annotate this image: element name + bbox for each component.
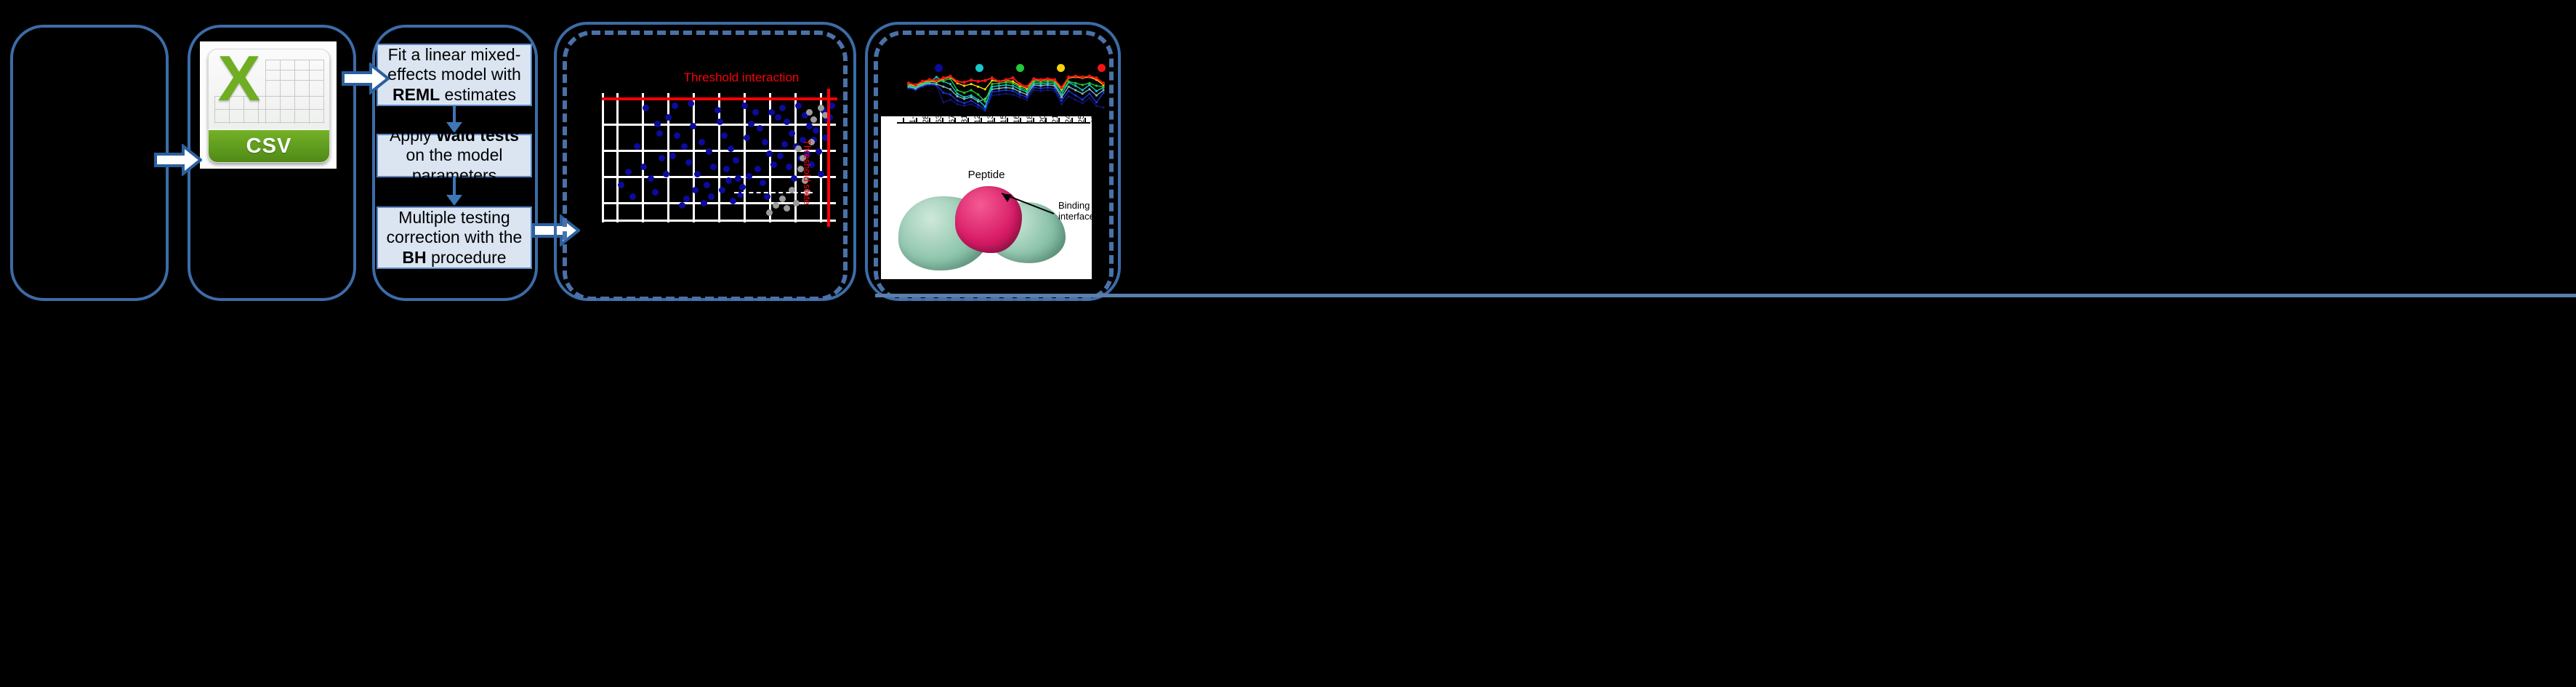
arrow-into-empty-panel-icon xyxy=(154,144,202,176)
scatter-point xyxy=(618,182,624,188)
scatter-point xyxy=(672,103,678,109)
peptide-series-marker xyxy=(1026,85,1029,88)
peptide-series-marker xyxy=(1074,89,1076,91)
peptide-series-marker xyxy=(1046,77,1049,80)
scatter-point xyxy=(688,100,694,107)
step1-suffix: estimates xyxy=(440,85,516,104)
peptide-series-marker xyxy=(984,105,986,108)
peptide-series-marker xyxy=(1060,103,1063,105)
peptide-series-marker xyxy=(1088,88,1090,90)
peptide-series-marker xyxy=(1082,92,1084,95)
peptide-series-marker xyxy=(1095,90,1098,92)
step-box-reml: Fit a linear mixed-effects model with RE… xyxy=(377,44,532,106)
peptide-series-marker xyxy=(1095,84,1098,87)
peptide-series-marker xyxy=(998,90,1000,92)
peptide-series-marker xyxy=(977,86,979,88)
peptide-series-marker xyxy=(1095,105,1098,107)
scatter-point xyxy=(634,143,640,150)
csv-card: X CSV xyxy=(208,49,330,163)
peptide-series-marker xyxy=(1095,101,1098,103)
peptide-tick-label: 218-237 xyxy=(1051,116,1060,124)
scatter-point xyxy=(652,189,659,196)
peptide-series-marker xyxy=(998,87,1000,89)
scatter-dashed-guide xyxy=(734,192,813,193)
peptide-series-marker xyxy=(956,95,958,97)
csv-file-icon: X CSV xyxy=(200,41,337,169)
scatter-point xyxy=(683,196,690,202)
peptide-series-marker xyxy=(1095,95,1098,97)
scatter-point xyxy=(723,166,730,172)
peptide-series-marker xyxy=(942,86,944,88)
peptide-series-marker xyxy=(1088,92,1090,95)
scatter-point xyxy=(766,209,773,216)
peptide-series-marker xyxy=(956,92,958,95)
peptide-series-marker xyxy=(1005,92,1007,95)
peptide-series-marker xyxy=(1012,90,1014,92)
threshold-interaction-line xyxy=(602,97,837,100)
peptide-series-marker xyxy=(998,84,1000,87)
peptide-series-marker xyxy=(963,84,965,87)
step1-prefix: Fit a linear mixed-effects model with xyxy=(387,45,521,84)
peptide-legend-dot xyxy=(1098,64,1106,72)
scatter-point xyxy=(685,159,692,166)
peptide-tick-label: 1-15 xyxy=(909,116,917,124)
peptide-series-marker xyxy=(1068,86,1070,88)
peptide-series-marker xyxy=(1102,81,1105,84)
peptide-series-marker xyxy=(970,83,973,85)
peptide-series-marker xyxy=(963,105,965,107)
scatter-point xyxy=(704,182,710,188)
peptide-series-marker xyxy=(1068,90,1070,92)
peptide-series-marker xyxy=(956,80,959,83)
scatter-point xyxy=(721,132,728,139)
binding-interface-annotation: Binding interface xyxy=(1058,201,1092,222)
peptide-tick-label: 167-180 xyxy=(1013,116,1021,124)
scatter-point xyxy=(629,193,636,200)
scatter-point xyxy=(786,164,792,170)
peptide-tick-label: 277-284 xyxy=(1090,116,1092,124)
scatter-point xyxy=(816,148,822,155)
peptide-series-marker xyxy=(1082,102,1084,104)
scatter-point xyxy=(760,180,766,186)
scatter-point xyxy=(795,103,802,109)
peptide-series-marker xyxy=(963,96,965,98)
peptide-series-marker xyxy=(984,88,986,90)
peptide-series-marker xyxy=(1067,76,1070,79)
scatter-point xyxy=(681,143,688,150)
peptide-legend-dot xyxy=(1016,64,1024,72)
scatter-point xyxy=(818,171,824,177)
peptide-series-marker xyxy=(956,103,958,105)
peptide-series-marker xyxy=(1095,76,1098,79)
peptide-series-marker xyxy=(991,79,993,81)
peptide-series-marker xyxy=(949,83,951,85)
peptide-series-marker xyxy=(1074,82,1076,84)
scatter-point xyxy=(754,166,761,172)
peptide-series-marker xyxy=(942,76,945,79)
step2-bold: Wald tests xyxy=(436,126,519,145)
peptide-series-marker xyxy=(1005,87,1007,89)
step3-bold: BH xyxy=(402,248,426,267)
peptide-series-marker xyxy=(1088,97,1090,99)
peptide-series-marker xyxy=(1082,84,1084,86)
peptide-series-marker xyxy=(970,79,973,81)
peptide-series-marker xyxy=(921,80,924,83)
step-box-bh: Multiple testing correction with the BH … xyxy=(377,206,532,269)
scatter-point xyxy=(735,175,741,182)
peptide-series-marker xyxy=(907,81,910,84)
peptide-series-marker xyxy=(963,102,965,104)
peptide-series-marker xyxy=(1019,96,1021,98)
peptide-series-marker xyxy=(963,92,965,94)
peptide-series-marker xyxy=(1012,80,1014,82)
peptide-series-marker xyxy=(998,93,1000,95)
scatter-point xyxy=(679,202,685,209)
peptide-legend-dot xyxy=(1057,64,1065,72)
peptide-series-marker xyxy=(1068,95,1070,97)
threshold-state-line xyxy=(827,89,830,227)
step1-bold: REML xyxy=(393,85,440,104)
scatter-point xyxy=(643,105,649,111)
excel-x-glyph: X xyxy=(212,51,267,111)
peptide-tick-label: 258-266 xyxy=(1077,116,1086,124)
peptide-series-marker xyxy=(1039,90,1042,92)
scatter-point xyxy=(690,123,696,129)
scatter-point xyxy=(725,177,732,184)
peptide-series-marker xyxy=(1060,86,1063,89)
peptide-series-marker xyxy=(1068,80,1070,82)
peptide-axis-tick xyxy=(903,118,904,123)
peptide-legend-dot xyxy=(935,64,943,72)
threshold-state-label: Threshold state xyxy=(802,140,813,205)
peptide-axis-title: Peptide xyxy=(881,169,1092,181)
scatter-point xyxy=(708,193,715,200)
peptide-series-marker xyxy=(1088,75,1091,78)
scatter-point xyxy=(748,121,754,127)
peptide-series-marker xyxy=(1074,95,1076,97)
peptide-series-marker xyxy=(1018,82,1021,85)
threshold-interaction-label: Threshold interaction xyxy=(640,71,843,85)
peptide-series-marker xyxy=(1005,78,1007,81)
peptide-series-marker xyxy=(997,80,1000,83)
scatter-point xyxy=(777,153,784,159)
peptide-series-marker xyxy=(983,79,986,82)
step2-prefix: Apply xyxy=(390,126,436,145)
peptide-series-marker xyxy=(991,83,993,85)
peptide-tick-label: 135-144 xyxy=(986,116,995,124)
scatter-point xyxy=(656,130,663,137)
scatter-point xyxy=(793,200,800,206)
connector-step1-step2 xyxy=(453,106,456,124)
scatter-point xyxy=(791,175,797,182)
peptide-series-marker xyxy=(977,106,979,108)
connector-step2-step3 xyxy=(453,177,456,196)
peptide-tick-label: 63-73 xyxy=(935,116,943,124)
peptide-legend-dot xyxy=(975,64,983,72)
peptide-series-marker xyxy=(1060,96,1063,98)
peptide-series-marker xyxy=(942,101,944,103)
peptide-series-marker xyxy=(970,89,973,91)
scatter-point xyxy=(752,109,759,116)
scatter-point xyxy=(659,155,665,161)
peptide-series-marker xyxy=(984,108,986,111)
panel-empty-stage xyxy=(10,25,169,301)
scatter-point xyxy=(746,173,752,180)
peptide-series-marker xyxy=(962,81,965,84)
peptide-series-marker xyxy=(977,104,979,106)
peptide-series-marker xyxy=(1060,93,1063,95)
peptide-series-marker xyxy=(1026,99,1028,101)
peptide-series-marker xyxy=(1026,96,1028,98)
peptide-series-marker xyxy=(914,84,917,87)
peptide-series-marker xyxy=(1012,84,1014,87)
scatter-point xyxy=(640,164,647,170)
binding-interface-line2: interface xyxy=(1058,212,1092,222)
arrow-empty-to-csv-icon xyxy=(342,63,390,95)
scatter-point xyxy=(773,202,779,209)
peptide-series-marker xyxy=(1012,93,1014,95)
peptide-series-marker xyxy=(1005,89,1007,91)
peptide-series-marker xyxy=(949,75,951,78)
peptide-series-marker xyxy=(1082,99,1084,101)
peptide-series-marker xyxy=(1102,89,1104,91)
scatter-point xyxy=(692,187,699,193)
peptide-series-marker xyxy=(984,100,986,103)
binding-interface-pointer-icon xyxy=(990,189,1057,218)
scatter-point xyxy=(648,175,654,182)
scatter-point xyxy=(741,103,748,109)
peptide-series-marker xyxy=(949,93,951,95)
peptide-series-marker xyxy=(949,99,951,101)
scatter-point xyxy=(762,139,768,145)
peptide-tick-label: 241-257 xyxy=(1064,116,1073,124)
peptide-series-line xyxy=(909,85,1103,111)
figure-canvas: X CSV Fit a linear mixed-effects model w… xyxy=(0,0,2576,687)
peptide-series-marker xyxy=(1047,89,1049,91)
peptide-series-marker xyxy=(1032,77,1035,80)
peptide-series-marker xyxy=(977,93,979,95)
peptide-series-marker xyxy=(935,79,938,82)
peptide-series-marker xyxy=(991,76,994,79)
scatter-point xyxy=(710,164,717,170)
scatter-point xyxy=(813,127,819,134)
peptide-series-marker xyxy=(1081,76,1084,79)
peptide-tick-label: 200-214 xyxy=(1039,116,1047,124)
peptide-series-marker xyxy=(1005,84,1007,86)
scatter-point xyxy=(669,153,676,159)
peptide-chart-svg xyxy=(893,65,1111,113)
scatter-point xyxy=(779,196,786,202)
scatter-point xyxy=(806,123,813,129)
scatter-point xyxy=(789,130,795,137)
scatter-point xyxy=(674,132,680,139)
peptide-series-marker xyxy=(970,100,973,102)
peptide-series-marker xyxy=(956,100,958,102)
scatter-point xyxy=(768,109,775,116)
peptide-series-marker xyxy=(1019,93,1021,95)
scatter-point xyxy=(733,157,739,164)
scatter-point xyxy=(663,171,669,177)
peptide-series-marker xyxy=(949,88,951,90)
bottom-accent-rule xyxy=(875,294,2576,297)
scatter-point xyxy=(770,161,777,168)
step3-prefix: Multiple testing correction with the xyxy=(387,208,523,247)
peptide-series-marker xyxy=(1011,76,1014,79)
scatter-point xyxy=(810,116,817,123)
arrowhead-step2-step3-icon xyxy=(446,195,462,206)
scatter-point xyxy=(764,193,770,200)
scatter-point xyxy=(694,171,701,177)
scatter-point xyxy=(717,118,723,125)
peptide-series-marker xyxy=(1088,82,1090,84)
scatter-point xyxy=(665,114,672,121)
peptide-tick-label: 28-44 xyxy=(922,116,930,124)
scatter-point xyxy=(781,141,788,148)
binding-interface-line1: Binding xyxy=(1058,201,1092,212)
scatter-point xyxy=(775,114,781,121)
peptide-series-marker xyxy=(1074,84,1076,87)
peptide-series-marker xyxy=(977,80,980,83)
peptide-series-marker xyxy=(1026,93,1028,95)
scatter-point xyxy=(701,200,707,206)
peptide-series-marker xyxy=(1102,106,1104,108)
scatter-point xyxy=(766,150,773,157)
scatter-point xyxy=(757,125,763,132)
scatter-point xyxy=(744,134,750,141)
peptide-series-marker xyxy=(1012,87,1014,89)
peptide-series-marker xyxy=(970,95,973,97)
peptide-series-marker xyxy=(1060,100,1063,102)
scatter-point xyxy=(706,148,712,155)
peptide-series-marker xyxy=(928,78,931,81)
scatter-point xyxy=(806,109,813,116)
peptide-line-chart xyxy=(893,65,1111,113)
peptide-tick-label: 122-129 xyxy=(973,116,982,124)
step-box-wald: Apply Wald tests on the model parameters xyxy=(377,134,532,177)
peptide-series-marker xyxy=(1039,78,1042,81)
csv-label: CSV xyxy=(209,129,329,162)
peptide-tick-label: 184-199 xyxy=(1026,116,1034,124)
peptide-series-marker xyxy=(956,89,958,91)
scatter-point xyxy=(779,105,786,111)
peptide-series-marker xyxy=(935,76,938,78)
peptide-series-marker xyxy=(970,103,973,105)
peptide-series-marker xyxy=(1047,87,1049,89)
peptide-tick-label: 67-75 xyxy=(948,116,957,124)
scatter-point xyxy=(699,139,705,145)
peptide-series-marker xyxy=(1074,99,1076,101)
peptide-series-marker xyxy=(1053,78,1056,81)
scatter-point xyxy=(719,187,725,193)
peptide-tick-label: 158-166 xyxy=(999,116,1008,124)
peptide-series-marker xyxy=(942,92,944,94)
scatter-point xyxy=(818,105,824,111)
peptide-series-marker xyxy=(1102,92,1104,94)
peptide-series-marker xyxy=(1019,91,1021,93)
peptide-series-marker xyxy=(977,99,979,101)
peptide-series-marker xyxy=(1082,89,1084,91)
peptide-series-marker xyxy=(1074,75,1077,78)
scatter-point xyxy=(784,205,790,212)
scatter-point xyxy=(625,169,632,175)
peptide-series-marker xyxy=(1039,87,1042,89)
scatter-plot xyxy=(602,93,836,222)
peptide-axis-and-structure: 1-1528-4463-7367-7581-101122-129135-1441… xyxy=(881,116,1092,279)
peptide-tick-label: 81-101 xyxy=(960,116,969,124)
step3-suffix: procedure xyxy=(427,248,507,267)
scatter-point xyxy=(654,121,661,127)
